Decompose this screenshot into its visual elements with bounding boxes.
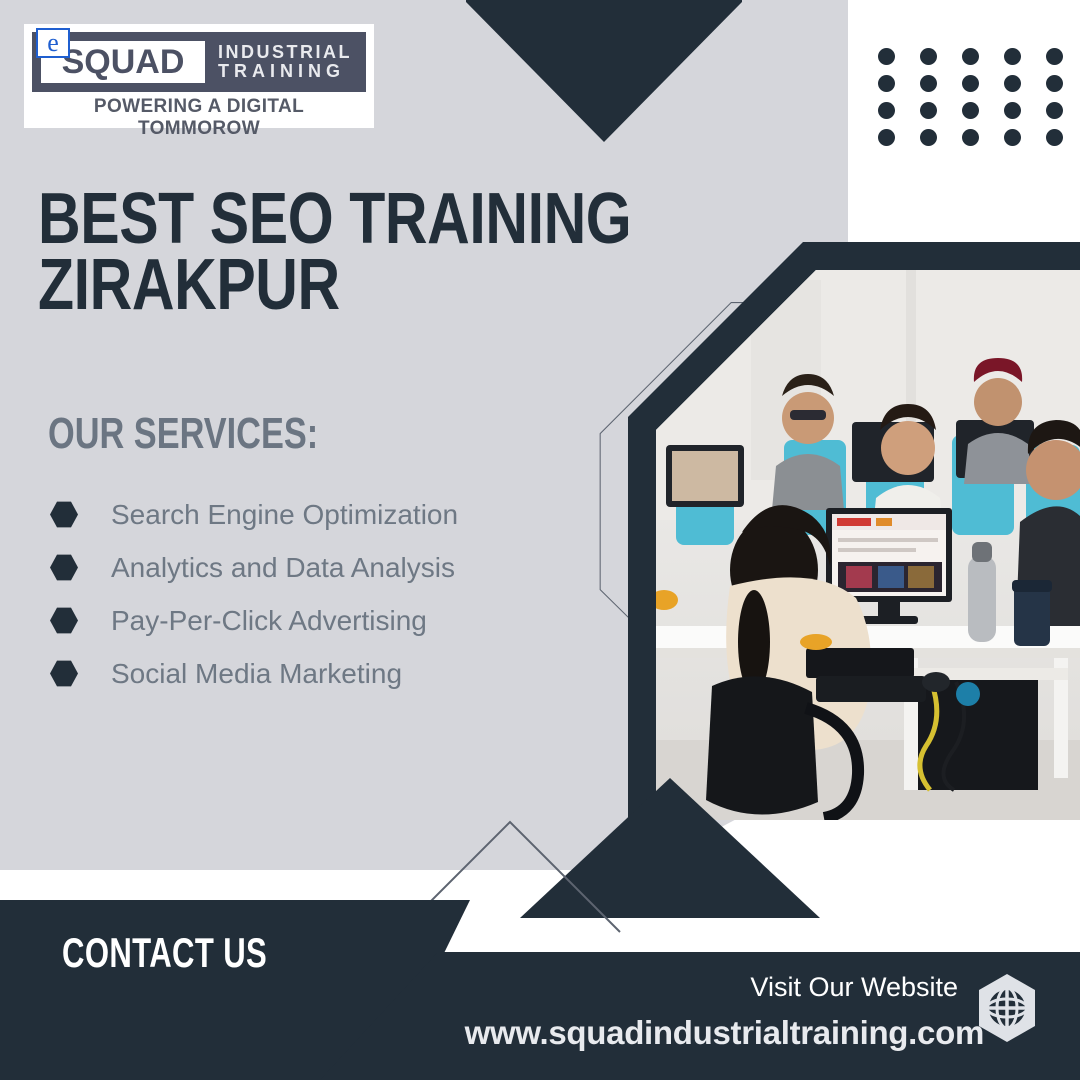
- logo-wordmark: SQUAD: [62, 45, 185, 79]
- service-label: Search Engine Optimization: [111, 499, 458, 531]
- contact-heading: CONTACT US: [62, 932, 267, 974]
- grid-dot: [920, 129, 937, 146]
- list-item: Search Engine Optimization: [50, 488, 570, 541]
- grid-dot: [1046, 129, 1063, 146]
- grid-dot: [920, 48, 937, 65]
- grid-dot: [878, 48, 895, 65]
- poster-canvas: SQUAD INDUSTRIAL TRAINING e POWERING A D…: [0, 0, 1080, 1080]
- logo-primary-bar: SQUAD INDUSTRIAL TRAINING: [32, 32, 366, 92]
- logo-e-letter: e: [47, 30, 59, 56]
- grid-dot: [1004, 129, 1021, 146]
- headline-line-2: ZIRAKPUR: [38, 252, 530, 318]
- hexagon-bullet-icon: [50, 501, 78, 529]
- grid-dot: [1046, 75, 1063, 92]
- service-label: Pay-Per-Click Advertising: [111, 605, 427, 637]
- grid-dot: [1004, 102, 1021, 119]
- grid-dot: [920, 75, 937, 92]
- grid-dot: [878, 129, 895, 146]
- grid-dot: [1004, 48, 1021, 65]
- service-label: Social Media Marketing: [111, 658, 402, 690]
- logo-tagline: POWERING A DIGITAL TOMMOROW: [32, 96, 366, 140]
- list-item: Social Media Marketing: [50, 647, 570, 700]
- brand-logo[interactable]: SQUAD INDUSTRIAL TRAINING e POWERING A D…: [24, 24, 374, 128]
- grid-dot: [962, 48, 979, 65]
- grid-dot: [878, 75, 895, 92]
- headline-line-1: BEST SEO TRAINING: [38, 186, 530, 252]
- service-label: Analytics and Data Analysis: [111, 552, 455, 584]
- grid-dot: [962, 102, 979, 119]
- visit-website-label: Visit Our Website: [750, 972, 958, 1003]
- services-list: Search Engine Optimization Analytics and…: [50, 488, 570, 700]
- grid-dot: [1004, 75, 1021, 92]
- logo-subtitle-line1: INDUSTRIAL: [218, 43, 352, 62]
- list-item: Pay-Per-Click Advertising: [50, 594, 570, 647]
- globe-hexagon-icon: [976, 972, 1038, 1044]
- logo-e-mark-icon: e: [36, 28, 70, 58]
- list-item: Analytics and Data Analysis: [50, 541, 570, 594]
- hexagon-bullet-icon: [50, 660, 78, 688]
- hexagon-bullet-icon: [50, 554, 78, 582]
- dot-grid-decor: [878, 48, 1080, 156]
- hexagon-bullet-icon: [50, 607, 78, 635]
- grid-dot: [1046, 102, 1063, 119]
- logo-subtitle: INDUSTRIAL TRAINING: [218, 43, 352, 81]
- services-heading: OUR SERVICES:: [48, 412, 318, 456]
- grid-dot: [962, 75, 979, 92]
- grid-dot: [920, 102, 937, 119]
- page-title: BEST SEO TRAINING ZIRAKPUR: [38, 186, 530, 318]
- grid-dot: [1046, 48, 1063, 65]
- logo-subtitle-line2: TRAINING: [218, 62, 352, 81]
- grid-dot: [962, 129, 979, 146]
- website-url-link[interactable]: www.squadindustrialtraining.com: [465, 1014, 984, 1052]
- grid-dot: [878, 102, 895, 119]
